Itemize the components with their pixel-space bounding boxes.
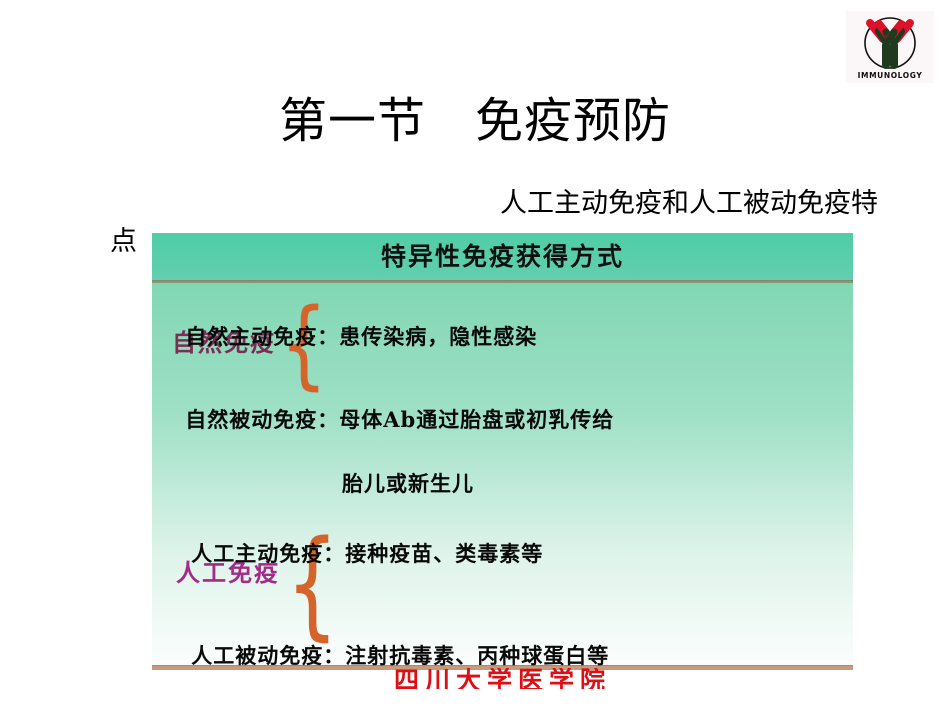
table-row: 人工主动免疫：接种疫苗、类毒素等 [158, 506, 543, 602]
subtitle-line-1: 人工主动免疫和人工被动免疫特 [500, 188, 878, 219]
table-row: 人工被动免疫：注射抗毒素、丙种球蛋白等 [158, 608, 609, 704]
row-detail-continued: 胎儿或新生儿 [342, 468, 614, 500]
page-title: 第一节 免疫预防 [0, 92, 950, 150]
watermark-institution: 四川大学医学院 [152, 668, 853, 689]
slide-canvas: IMMUNOLOGY 第一节 免疫预防 人工主动免疫和人工被动免疫特 点 特异性… [0, 0, 950, 713]
row-term: 人工主动免疫： [191, 541, 345, 566]
table-row: 自然主动免疫：患传染病，隐性感染 [152, 289, 537, 385]
logo-caption: IMMUNOLOGY [858, 71, 923, 80]
row-term: 自然主动免疫： [185, 324, 339, 349]
row-detail: 患传染病，隐性感染 [339, 324, 537, 349]
immunology-logo: IMMUNOLOGY [846, 11, 934, 83]
subtitle: 人工主动免疫和人工被动免疫特 点 [110, 185, 878, 261]
subtitle-line-2: 点 [110, 223, 878, 261]
row-detail: 注射抗毒素、丙种球蛋白等 [345, 643, 609, 668]
row-detail: 母体Ab通过胎盘或初乳传给 [339, 407, 614, 432]
row-term: 人工被动免疫： [191, 643, 345, 668]
row-term: 自然被动免疫： [185, 407, 339, 432]
antibody-icon: IMMUNOLOGY [846, 11, 934, 83]
row-detail: 接种疫苗、类毒素等 [345, 541, 543, 566]
